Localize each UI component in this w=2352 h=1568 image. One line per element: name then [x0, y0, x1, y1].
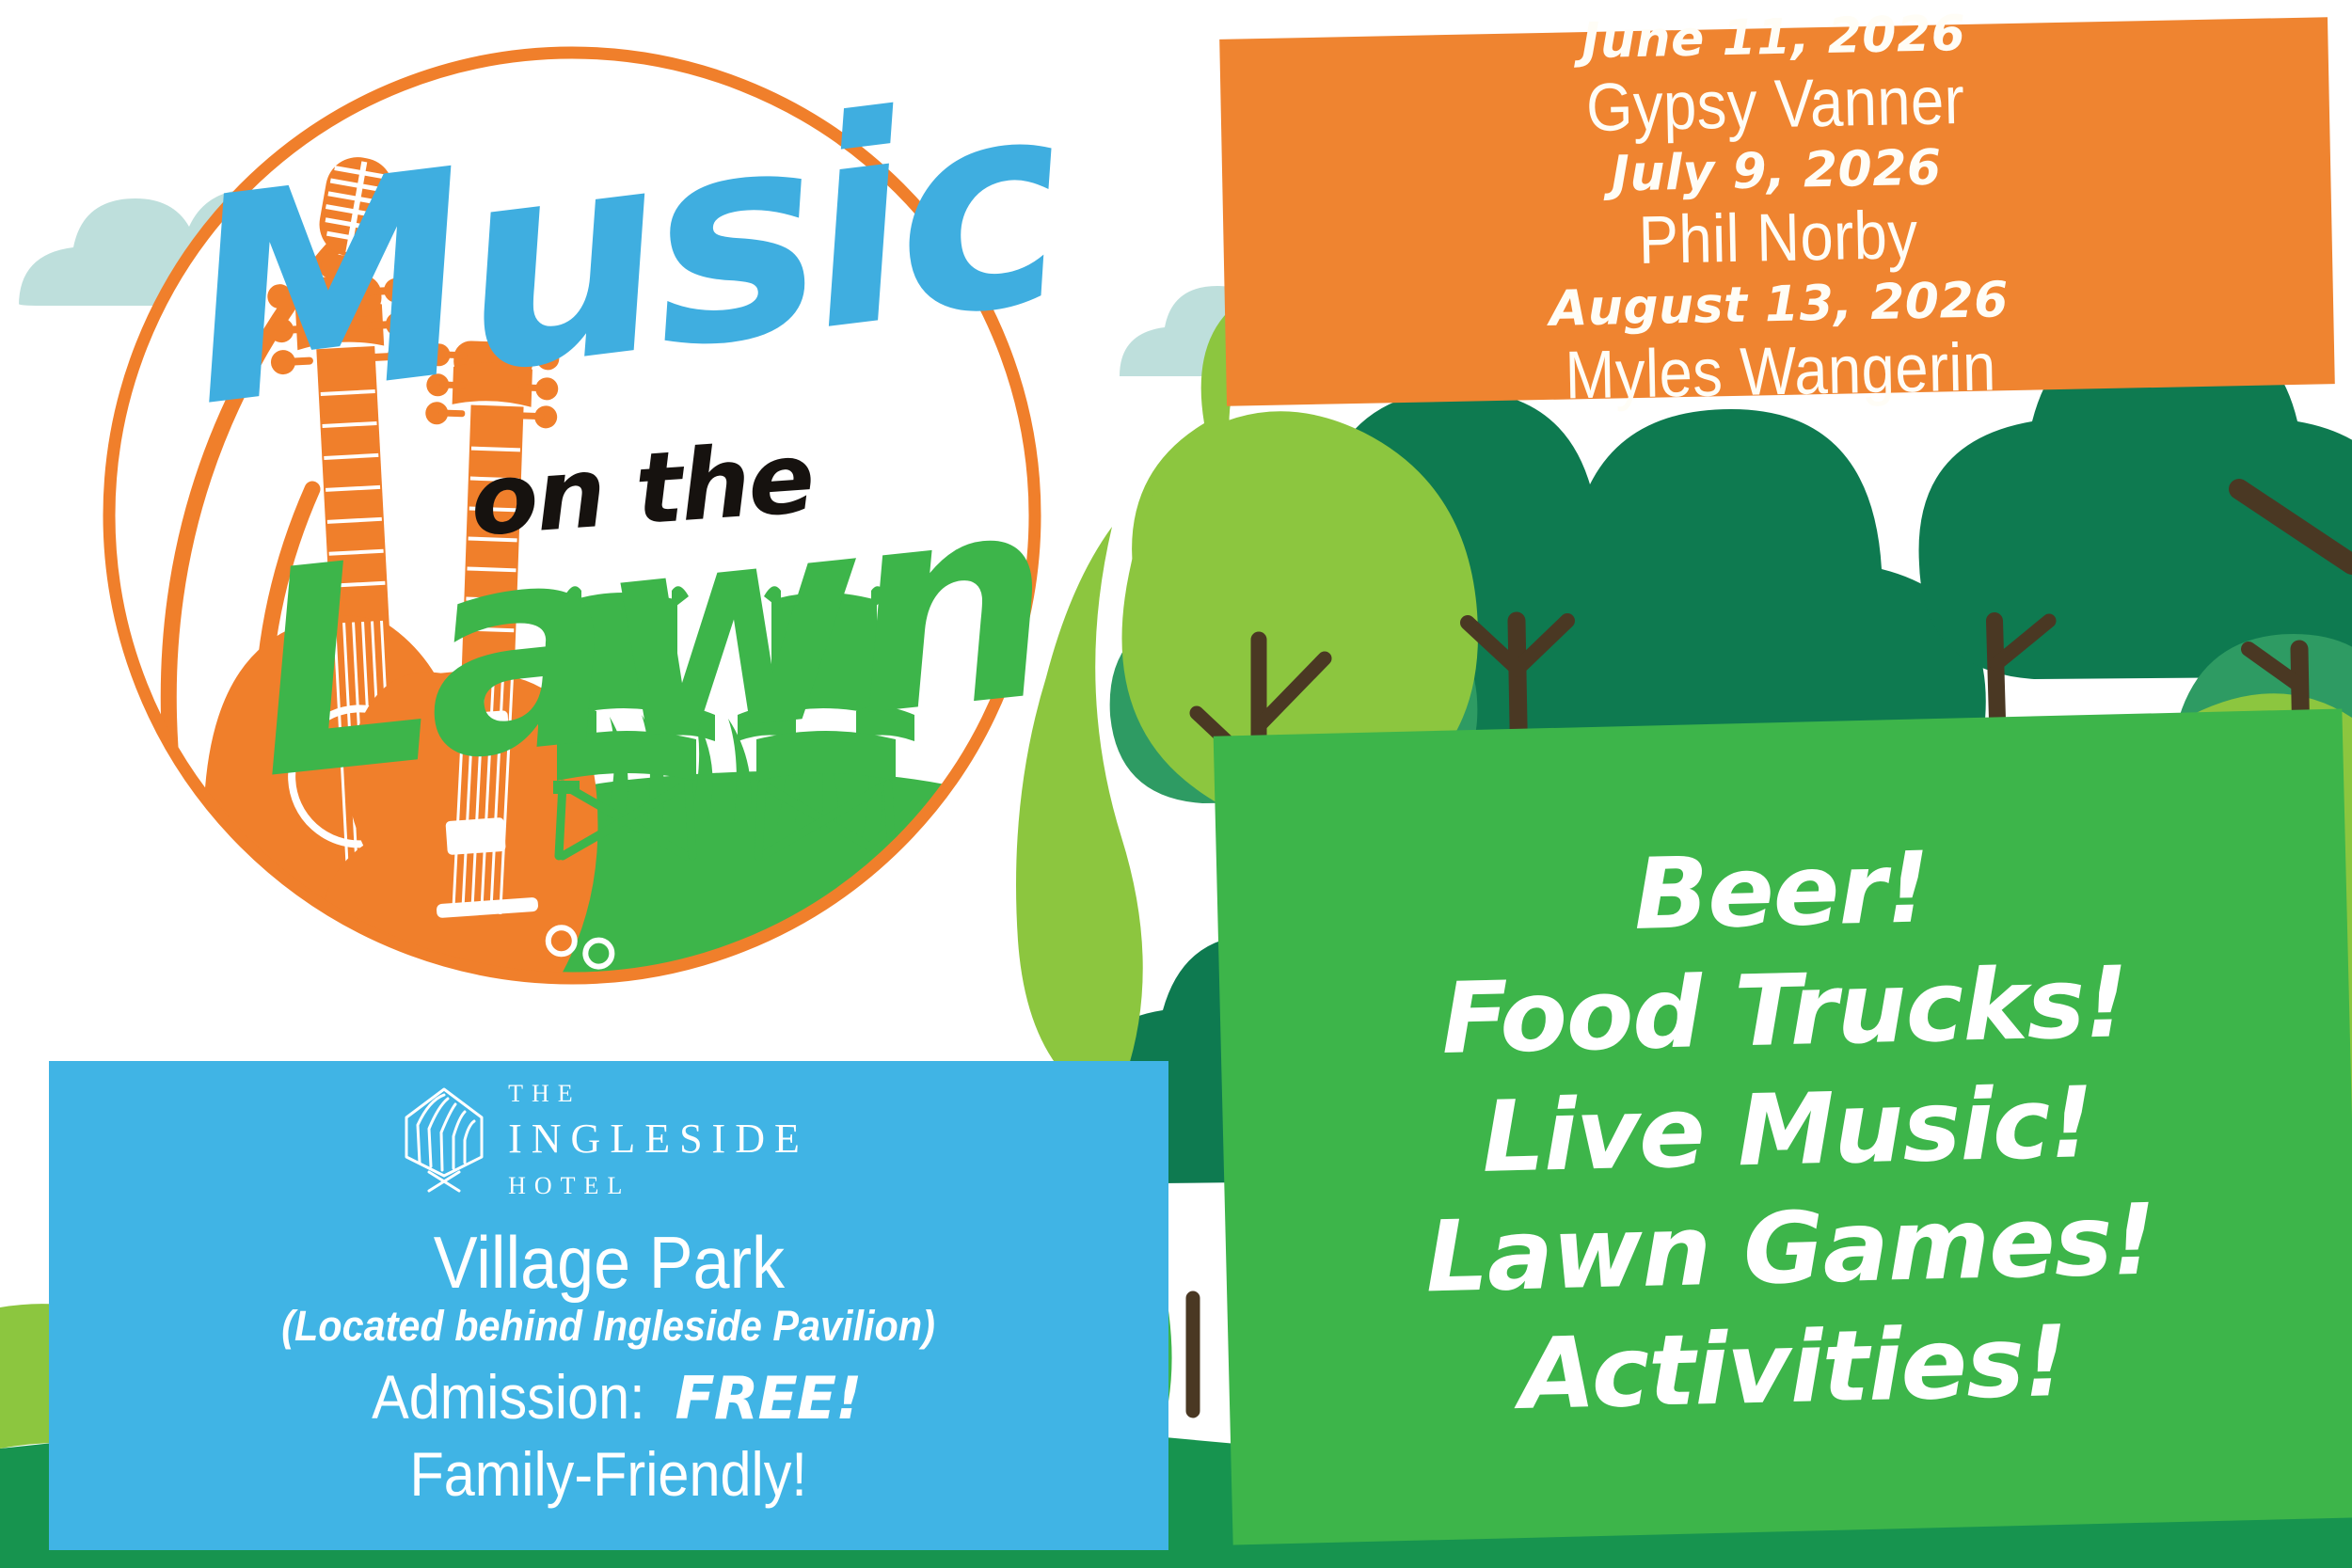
feature-item: Food Trucks! — [1440, 945, 2129, 1075]
event-artist: Gypsy Vanner — [1585, 63, 1965, 147]
ingleside-the: THE — [508, 1082, 581, 1106]
feature-item: Live Music! — [1481, 1066, 2094, 1194]
event-date: June 11, 2026 — [1558, 5, 1989, 71]
ingleside-hotel-logo: THE INGLESIDE HOTEL — [401, 1082, 809, 1198]
admission-label: Admission: — [372, 1361, 645, 1433]
ingleside-hotel: HOTEL — [508, 1174, 630, 1198]
event-item: June 11, 2026 Gypsy Vanner — [1558, 5, 1991, 147]
logo-word-lawn: Lawn — [242, 456, 1054, 819]
event-date: August 13, 2026 — [1534, 272, 2025, 340]
event-item: July 9, 2026 Phil Norby — [1611, 140, 1944, 280]
event-artist: Phil Norby — [1631, 198, 1923, 279]
music-on-the-lawn-logo: Music on the Lawn — [83, 26, 1061, 1005]
family-friendly-line: Family-Friendly! — [410, 1438, 807, 1510]
venue-note: (Located behind Ingleside Pavilion) — [282, 1303, 936, 1350]
event-artist: Myles Wangerin — [1565, 330, 1997, 415]
ingleside-house-mark-icon — [401, 1085, 487, 1195]
feature-item: Lawn Games! — [1424, 1183, 2156, 1315]
feature-item: Activities! — [1518, 1305, 2069, 1432]
admission-value: FREE! — [675, 1364, 861, 1433]
event-item: August 13, 2026 Myles Wangerin — [1534, 272, 2026, 415]
features-panel: Beer! Food Trucks! Live Music! Lawn Game… — [1214, 708, 2352, 1544]
ingleside-name: INGLESIDE — [508, 1118, 809, 1160]
feature-item: Beer! — [1632, 832, 1931, 952]
venue-info-panel: THE INGLESIDE HOTEL Village Park (Locate… — [49, 1061, 1168, 1550]
ingleside-wordmark: THE INGLESIDE HOTEL — [508, 1082, 809, 1198]
concert-dates-panel: June 11, 2026 Gypsy Vanner July 9, 2026 … — [1219, 17, 2335, 406]
admission-row: Admission: FREE! — [357, 1361, 862, 1433]
event-date: July 9, 2026 — [1611, 140, 1942, 204]
venue-name: Village Park — [433, 1225, 784, 1301]
microphone-stand-base — [134, 866, 258, 898]
poster-canvas: Music on the Lawn June 11, 2026 Gypsy Va… — [0, 0, 2352, 1568]
